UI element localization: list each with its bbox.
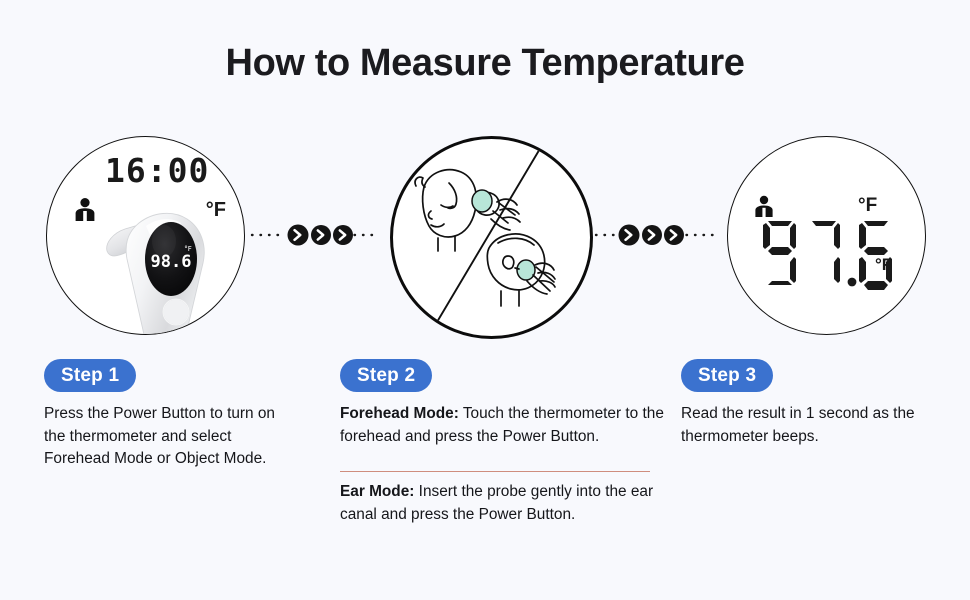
step-1-text: Press the Power Button to turn on the th… [44, 405, 275, 467]
page-title: How to Measure Temperature [0, 42, 970, 85]
clock-display: 16:00 [105, 151, 209, 190]
circle-step-3: °F [727, 136, 926, 335]
step-badge-2[interactable]: Step 2 [340, 359, 432, 392]
device-screen-value: 98.6 [151, 252, 192, 272]
circle-step-1: 16:00 °F [46, 136, 245, 335]
person-icon [754, 195, 774, 217]
thermometer-device-illustration: 98.6 °F [99, 193, 245, 335]
step-1-description: Press the Power Button to turn on the th… [44, 403, 280, 471]
step-3-text: Read the result in 1 second as the therm… [681, 405, 915, 445]
forehead-mode-label: Forehead Mode: [340, 405, 459, 422]
device-screen-unit: °F [184, 245, 192, 253]
unit-label-fahrenheit-top: °F [858, 195, 877, 217]
step-badge-3[interactable]: Step 3 [681, 359, 773, 392]
temperature-reading-display [760, 219, 892, 293]
step-2-ear-description: Ear Mode: Insert the probe gently into t… [340, 481, 685, 526]
ear-mode-label: Ear Mode: [340, 483, 414, 500]
step-3-description: Read the result in 1 second as the therm… [681, 403, 943, 448]
circle-step-2 [390, 136, 593, 339]
step-2-divider [340, 471, 650, 472]
connector-1-to-2 [250, 224, 378, 246]
step-badge-1[interactable]: Step 1 [44, 359, 136, 392]
connector-2-to-3 [594, 224, 722, 246]
measurement-illustration [393, 139, 584, 330]
unit-label-fahrenheit-side: °F [875, 255, 892, 275]
infographic-page: How to Measure Temperature 16:00 °F [0, 0, 970, 600]
person-icon [74, 197, 96, 221]
step-2-forehead-description: Forehead Mode: Touch the thermometer to … [340, 403, 670, 448]
